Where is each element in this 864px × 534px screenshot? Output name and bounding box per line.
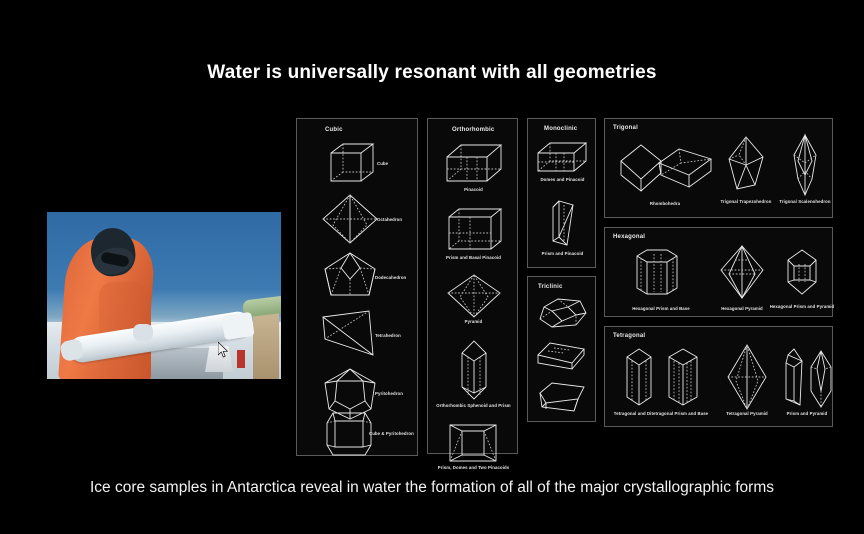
- red-equipment: [237, 350, 245, 368]
- crystal-label: Prism and Pinacoid: [530, 251, 595, 256]
- crystal-label: Prism, Domes and Two Pinacoids: [428, 465, 519, 470]
- slide-caption: Ice core samples in Antarctica reveal in…: [0, 479, 864, 497]
- crystal-form-hexagonal-pyramid: Hexagonal Pyramid: [711, 242, 773, 316]
- crystal-label: Tetragonal and Ditetragonal Prism and Ba…: [607, 411, 715, 416]
- crystal-label: Trigonal Trapezohedron: [711, 199, 781, 204]
- crystal-form-cube-and-pyritohedron: Cube & Pyritohedron: [305, 391, 417, 449]
- panel-title-cubic: Cubic: [325, 127, 343, 133]
- crystal-label: Trigonal Scalenohedron: [773, 199, 837, 204]
- crystal-label: Orthorhombic Sphenoid and Prism: [426, 403, 521, 408]
- crystal-form-prism-and-pinacoid: Prism and Pinacoid: [530, 191, 595, 263]
- crystal-label: Cube: [377, 161, 388, 166]
- crystal-form-trigonal-scalenohedron: Trigonal Scalenohedron: [777, 131, 833, 217]
- crystal-form-prism-domes-two-pinacoids: Prism, Domes and Two Pinacoids: [432, 415, 515, 477]
- crystal-label: Octahedron: [377, 217, 402, 222]
- researcher-right-glove: [133, 324, 153, 341]
- crystal-form-prism-and-pyramid: Prism and Pyramid: [779, 345, 835, 427]
- crystal-form-triclinic-3: [530, 379, 595, 419]
- crystal-label: Dodecahedron: [375, 275, 406, 280]
- crystal-label: Prism and Pyramid: [775, 411, 839, 416]
- crystal-form-orthorhombic-sphenoid-and-prism: Orthorhombic Sphenoid and Prism: [432, 335, 515, 417]
- crystal-label: Cube & Pyritohedron: [369, 431, 414, 436]
- panel-cubic: Cubic Cube Octahedron: [296, 118, 418, 456]
- crystal-form-triclinic-1: [530, 295, 595, 337]
- crystal-form-octahedron: Octahedron: [305, 191, 417, 247]
- slide-title: Water is universally resonant with all g…: [0, 62, 864, 84]
- crystal-label: Hexagonal Prism and Base: [611, 306, 711, 311]
- panel-hexagonal: Hexagonal Hexagonal Prism and Base Hexag…: [604, 227, 833, 317]
- panel-title-hexagonal: Hexagonal: [613, 234, 645, 240]
- crystal-form-cube: Cube: [305, 137, 417, 189]
- crystal-label: Pinacoid: [432, 187, 515, 192]
- slide-canvas: Water is universally resonant with all g…: [0, 0, 864, 534]
- panel-title-tetragonal: Tetragonal: [613, 333, 645, 339]
- crystal-label: Hexagonal Prism and Pyramid: [765, 304, 839, 309]
- crystal-form-trigonal-trapezohedron: Trigonal Trapezohedron: [715, 133, 777, 217]
- crystal-label: Prism and Basal Pinacoid: [432, 255, 515, 260]
- panel-triclinic: Triclinic: [527, 276, 596, 422]
- crystal-form-rhombohedra: Rhombohedra: [611, 135, 715, 217]
- panel-trigonal: Trigonal Rhombohedra Trigonal Trapezohe: [604, 118, 833, 218]
- panel-tetragonal: Tetragonal Tetragonal and Ditetragonal P…: [604, 326, 833, 427]
- mouse-cursor: [218, 342, 229, 358]
- crystal-label: Rhombohedra: [617, 201, 713, 206]
- crystal-label: Tetrahedron: [375, 333, 401, 338]
- crystal-label: Tetragonal Pyramid: [713, 411, 781, 416]
- crystal-form-prism-and-basal-pinacoid: Prism and Basal Pinacoid: [432, 203, 515, 269]
- panel-title-orthorhombic: Orthorhombic: [452, 127, 494, 133]
- crystal-label: Domes and Pinacoid: [530, 177, 595, 182]
- crystal-form-tetrahedron: Tetrahedron: [305, 307, 417, 365]
- crystal-label: Pyramid: [432, 319, 515, 324]
- panel-title-monoclinic: Monoclinic: [544, 126, 577, 132]
- crystal-form-pinacoid: Pinacoid: [432, 139, 515, 201]
- crystal-form-hexagonal-prism-and-base: Hexagonal Prism and Base: [613, 244, 709, 316]
- wooden-plank: [253, 308, 279, 379]
- crystal-form-triclinic-2: [530, 339, 595, 379]
- panel-title-trigonal: Trigonal: [613, 125, 638, 131]
- panel-monoclinic: Monoclinic Domes and Pinacoid Prism and …: [527, 118, 596, 268]
- crystal-form-tetragonal-ditetragonal-prism-and-base: Tetragonal and Ditetragonal Prism and Ba…: [609, 343, 713, 427]
- crystal-form-dodecahedron: Dodecahedron: [305, 249, 417, 305]
- crystal-form-domes-and-pinacoid: Domes and Pinacoid: [530, 137, 595, 189]
- crystal-form-pyramid: Pyramid: [432, 271, 515, 333]
- panel-orthorhombic: Orthorhombic Pinacoid Prism and Basal Pi…: [427, 118, 518, 454]
- panel-title-triclinic: Triclinic: [538, 284, 562, 290]
- crystal-form-tetragonal-pyramid: Tetragonal Pyramid: [715, 341, 779, 427]
- crystal-form-hexagonal-prism-and-pyramid: Hexagonal Prism and Pyramid: [773, 246, 831, 316]
- antarctic-ice-core-photo: [47, 212, 281, 379]
- ice-core-cap: [221, 312, 254, 340]
